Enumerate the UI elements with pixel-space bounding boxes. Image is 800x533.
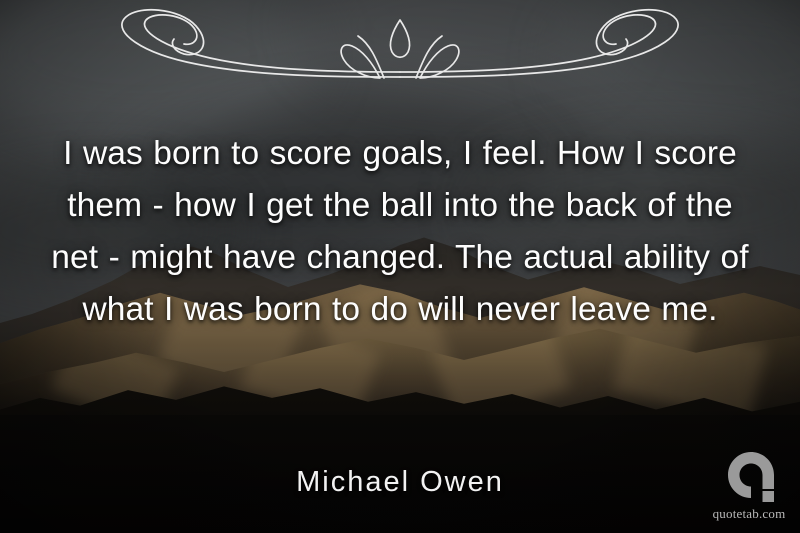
quote-card: I was born to score goals, I feel. How I…: [0, 0, 800, 533]
quotetab-logo-text: quotetab.com: [706, 506, 792, 522]
decorative-flourish-icon: [84, 6, 716, 88]
quotetab-q-icon: [728, 452, 774, 502]
quote-text: I was born to score goals, I feel. How I…: [44, 128, 756, 336]
quotetab-logo[interactable]: quotetab.com: [706, 452, 792, 524]
quote-author: Michael Owen: [0, 466, 800, 499]
